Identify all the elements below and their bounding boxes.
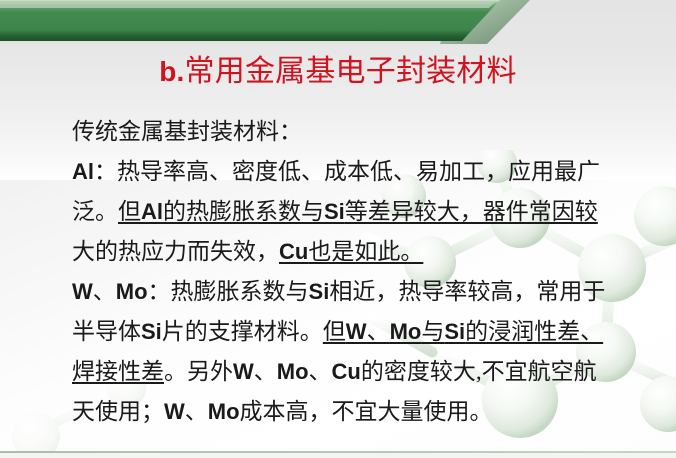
body-line: 大的热应力而失效，Cu也是如此。 (72, 232, 632, 272)
body-text-underlined: 的热膨胀系数与 (163, 199, 324, 224)
body-text-segment: Mo (116, 279, 148, 304)
body-text-underlined: Si (444, 319, 465, 344)
body-text-segment: 相近，热导率较高，常用于 (329, 279, 605, 304)
body-text-segment: Mo (208, 399, 240, 424)
body-text-segment: 泛。 (72, 199, 118, 224)
body-text-segment: 。另外 (164, 359, 233, 384)
body-text-underlined: 但 (323, 319, 346, 344)
body-text-segment: W (233, 359, 254, 384)
page-title: b.常用金属基电子封装材料 (0, 52, 676, 92)
body-line: 传统金属基封装材料： (72, 112, 632, 152)
slide-body-text: 传统金属基封装材料：Al：热导率高、密度低、成本低、易加工，应用最广泛。但Al的… (72, 112, 632, 432)
body-text-segment: 、 (93, 279, 116, 304)
body-text-segment: 半导体 (72, 319, 141, 344)
body-text-segment: 成本高，不宜大量使用。 (240, 399, 493, 424)
slide-bottom-rule (0, 451, 676, 453)
slide-footer-band (0, 453, 676, 458)
body-text-segment: 、 (185, 399, 208, 424)
body-text-underlined: Mo (390, 319, 422, 344)
body-text-segment: Al (72, 159, 94, 184)
body-text-segment: 传统金属基封装材料： (72, 119, 302, 144)
page-title-latin-prefix: b. (159, 56, 184, 87)
body-text-underlined: 也是如此。 (308, 239, 423, 264)
body-text-segment: 片的支撑材料。 (162, 319, 323, 344)
body-text-underlined: 但 (118, 199, 141, 224)
body-text-segment: 、 (309, 359, 332, 384)
body-text-underlined: 与 (421, 319, 444, 344)
body-text-underlined: 、 (367, 319, 390, 344)
body-text-segment: Mo (277, 359, 309, 384)
body-line: W、Mo：热膨胀系数与Si相近，热导率较高，常用于 (72, 272, 632, 312)
body-line: 半导体Si片的支撑材料。但W、Mo与Si的浸润性差、 (72, 312, 632, 352)
body-text-segment: 大的热应力而失效， (72, 239, 279, 264)
body-text-segment: 的密度较大,不宜航空航 (361, 359, 597, 384)
body-text-underlined: 的浸润性差、 (465, 319, 603, 344)
body-line: 泛。但Al的热膨胀系数与Si等差异较大，器件常因较 (72, 192, 632, 232)
body-line: Al：热导率高、密度低、成本低、易加工，应用最广 (72, 152, 632, 192)
body-text-underlined: Al (141, 199, 163, 224)
body-text-underlined: Cu (279, 239, 308, 264)
body-text-segment: Si (309, 279, 330, 304)
body-line: 焊接性差。另外W、Mo、Cu的密度较大,不宜航空航 (72, 352, 632, 392)
body-text-segment: W (72, 279, 93, 304)
body-text-segment: ：热导率高、密度低、成本低、易加工，应用最广 (94, 159, 600, 184)
body-text-segment: Si (141, 319, 162, 344)
body-text-segment: ：热膨胀系数与 (148, 279, 309, 304)
body-text-segment: W (164, 399, 185, 424)
body-text-underlined: W (346, 319, 367, 344)
body-text-segment: Cu (332, 359, 361, 384)
body-text-segment: 、 (254, 359, 277, 384)
body-text-segment: 天使用； (72, 399, 164, 424)
slide-canvas: b.常用金属基电子封装材料 传统金属基封装材料：Al：热导率高、密度低、成本低、… (0, 0, 676, 458)
page-title-chinese: 常用金属基电子封装材料 (185, 55, 517, 88)
body-text-underlined: 焊接性差 (72, 359, 164, 384)
body-text-underlined: 等差异较大，器件常因较 (345, 199, 598, 224)
body-line: 天使用；W、Mo成本高，不宜大量使用。 (72, 392, 632, 432)
body-text-underlined: Si (324, 199, 345, 224)
